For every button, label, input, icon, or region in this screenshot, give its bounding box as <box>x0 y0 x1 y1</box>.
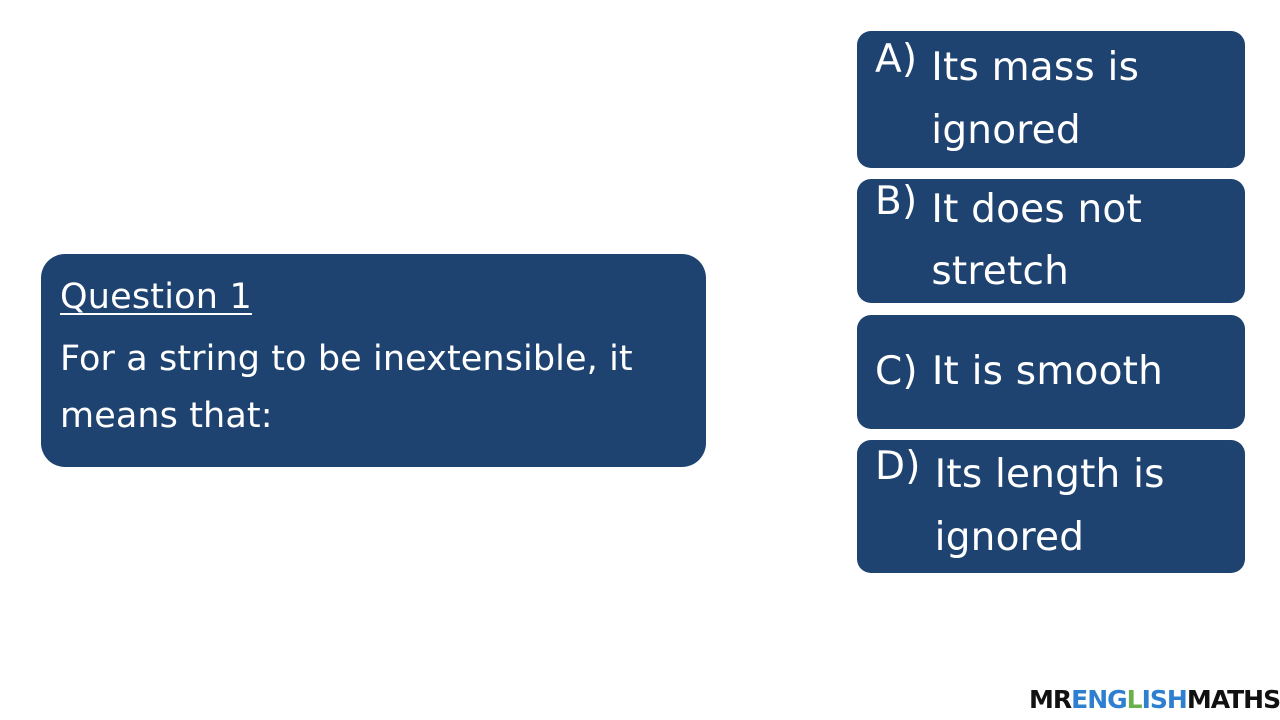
answer-option-d-letter: D) <box>875 444 921 489</box>
question-card: Question 1 For a string to be inextensib… <box>41 254 706 467</box>
answer-option-c-letter: C) <box>875 349 918 394</box>
question-body: For a string to be inextensible, it mean… <box>60 331 706 444</box>
answer-options-list: A) Its mass is ignored B) It does not st… <box>857 31 1245 573</box>
brand-logo-part-maths: MATHS <box>1187 685 1280 714</box>
answer-option-c-text: It is smooth <box>932 341 1163 403</box>
answer-option-d-text: Its length is ignored <box>935 444 1225 569</box>
answer-option-b-text: It does not stretch <box>931 179 1221 304</box>
answer-option-b-inner: B) It does not stretch <box>875 179 1221 304</box>
brand-logo: MRENGLISHMATHS <box>1029 685 1271 714</box>
answer-option-a[interactable]: A) Its mass is ignored <box>857 31 1245 168</box>
answer-option-d[interactable]: D) Its length is ignored <box>857 440 1245 573</box>
question-title: Question 1 <box>60 280 252 315</box>
slide-canvas: Question 1 For a string to be inextensib… <box>0 0 1280 720</box>
answer-option-d-inner: D) Its length is ignored <box>875 444 1225 569</box>
answer-option-c[interactable]: C) It is smooth <box>857 315 1245 429</box>
answer-option-b-letter: B) <box>875 179 917 224</box>
answer-option-a-text: Its mass is ignored <box>931 37 1221 162</box>
answer-option-b[interactable]: B) It does not stretch <box>857 179 1245 303</box>
brand-logo-part-ish: ISH <box>1142 685 1187 714</box>
answer-option-c-inner: C) It is smooth <box>875 341 1163 403</box>
answer-option-a-letter: A) <box>875 37 917 82</box>
brand-logo-part-mr: MR <box>1029 685 1071 714</box>
brand-logo-part-eng: ENG <box>1071 685 1127 714</box>
brand-logo-part-l: L <box>1127 685 1142 714</box>
answer-option-a-inner: A) Its mass is ignored <box>875 37 1221 162</box>
